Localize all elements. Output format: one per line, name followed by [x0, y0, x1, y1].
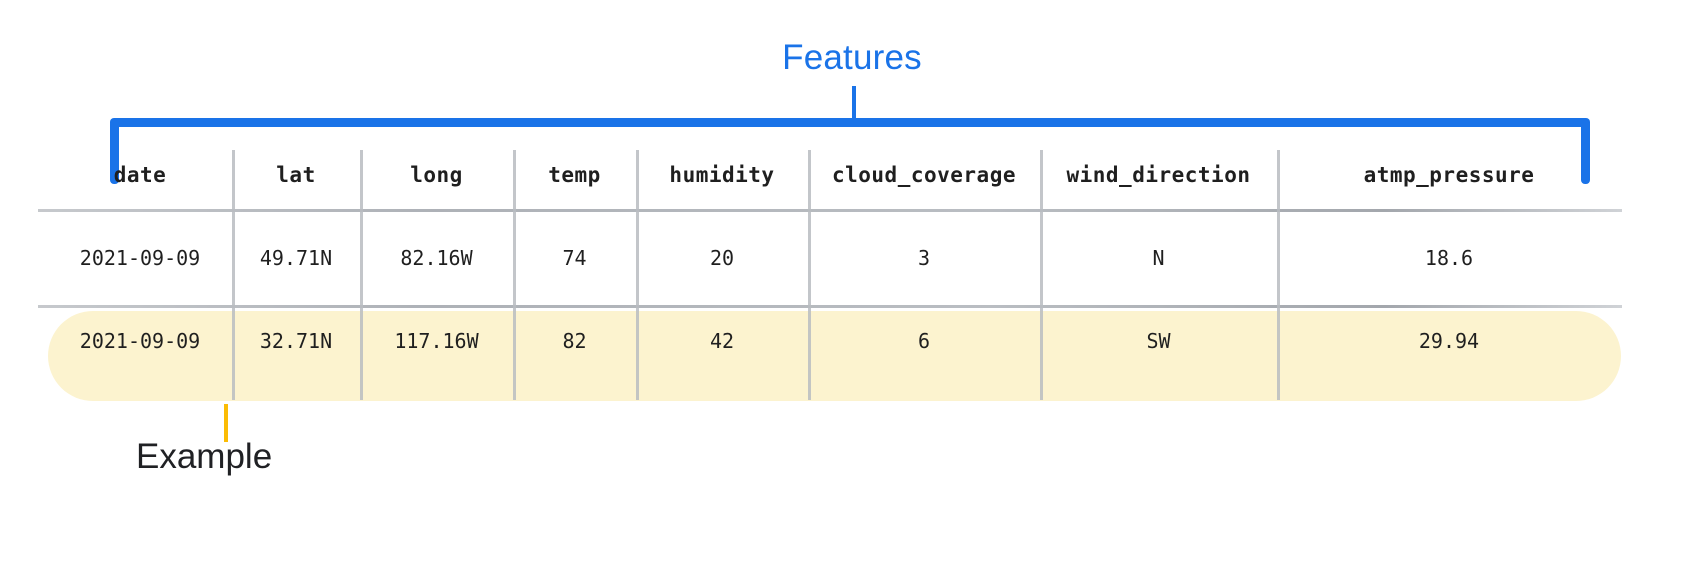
example-annotation-label: Example	[136, 437, 272, 477]
table-row: 74	[513, 246, 636, 270]
table-row: 20	[636, 246, 808, 270]
column-divider-7	[1277, 150, 1280, 400]
table-row: 29.94	[1277, 329, 1621, 353]
table-row: 2021-09-09	[48, 329, 232, 353]
table-row: N	[1040, 246, 1277, 270]
column-divider-1	[232, 150, 235, 400]
table-row: 2021-09-09	[48, 246, 232, 270]
header-separator-line	[38, 209, 1622, 212]
table-row: 49.71N	[232, 246, 360, 270]
column-divider-3	[513, 150, 516, 400]
column-divider-5	[808, 150, 811, 400]
column-header-date: date	[48, 163, 232, 187]
table-row: 82	[513, 329, 636, 353]
row-separator-line	[38, 305, 1622, 308]
table-row: 32.71N	[232, 329, 360, 353]
table-row: 18.6	[1277, 246, 1621, 270]
diagram-canvas: Features date lat long temp humidity clo…	[0, 0, 1686, 566]
column-divider-6	[1040, 150, 1043, 400]
column-header-long: long	[360, 163, 513, 187]
column-header-humidity: humidity	[636, 163, 808, 187]
column-header-cloud-coverage: cloud_coverage	[808, 163, 1040, 187]
table-row: 42	[636, 329, 808, 353]
table-row: SW	[1040, 329, 1277, 353]
column-header-wind-direction: wind_direction	[1040, 163, 1277, 187]
column-header-temp: temp	[513, 163, 636, 187]
table-row: 6	[808, 329, 1040, 353]
table-row: 117.16W	[360, 329, 513, 353]
column-header-lat: lat	[232, 163, 360, 187]
table-row: 3	[808, 246, 1040, 270]
highlighted-example-row-background	[48, 311, 1621, 401]
column-divider-2	[360, 150, 363, 400]
data-table: date lat long temp humidity cloud_covera…	[0, 0, 1686, 566]
table-row: 82.16W	[360, 246, 513, 270]
column-header-atmp-pressure: atmp_pressure	[1277, 163, 1621, 187]
column-divider-4	[636, 150, 639, 400]
